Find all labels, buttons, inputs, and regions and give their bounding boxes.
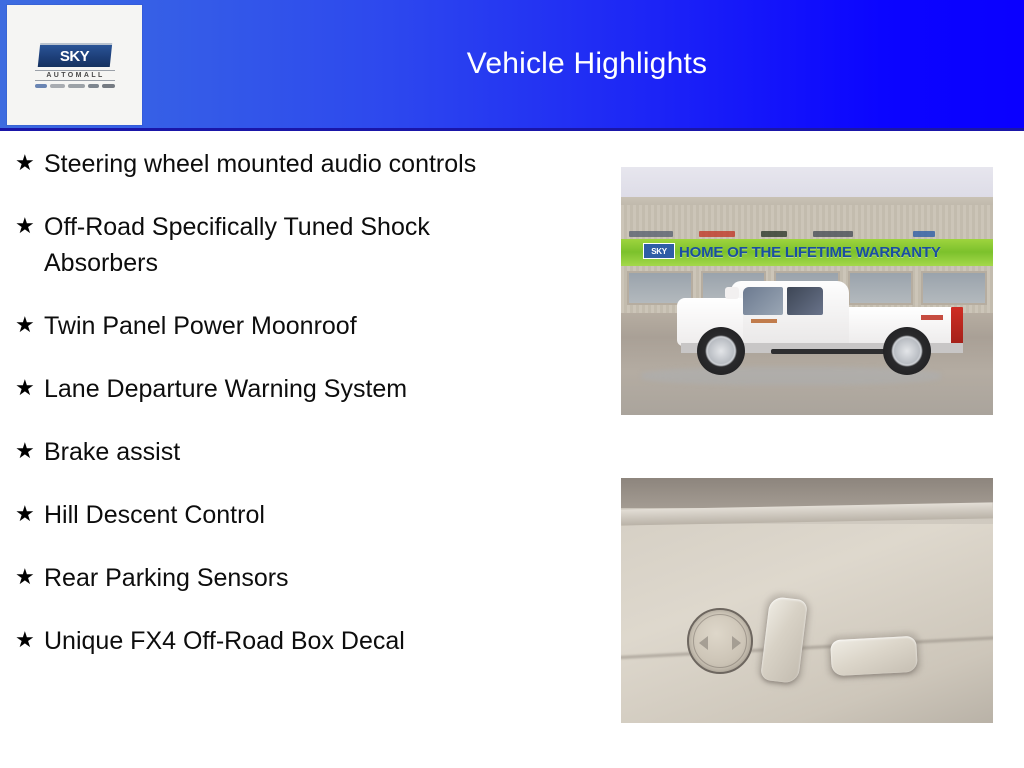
jeep-sign-icon	[761, 231, 787, 237]
automall-text: AUTOMALL	[35, 70, 115, 81]
sky-background	[621, 167, 993, 201]
list-item: ★ Lane Departure Warning System	[10, 371, 600, 407]
sky-sign-icon	[913, 231, 935, 237]
lumbar-arrow-right-icon	[732, 636, 741, 650]
brand-logos-strip	[33, 84, 117, 88]
highlight-label: Rear Parking Sensors	[44, 560, 289, 596]
wheel-hub	[708, 338, 734, 364]
vehicle-exterior-photo[interactable]: SKY HOME OF THE LIFETIME WARRANTY	[621, 167, 993, 415]
list-item: ★ Rear Parking Sensors	[10, 560, 600, 596]
ford-brand-icon	[35, 84, 47, 88]
star-icon: ★	[10, 146, 44, 180]
banner-text: HOME OF THE LIFETIME WARRANTY	[679, 240, 991, 265]
jeep-brand-icon	[88, 84, 99, 88]
banner-sky-logo: SKY	[643, 243, 675, 259]
list-item: ★ Hill Descent Control	[10, 497, 600, 533]
truck-bed-decal	[921, 315, 943, 320]
star-icon: ★	[10, 497, 44, 531]
seat-cushion-switch	[830, 636, 918, 676]
dodge-sign-icon	[699, 231, 735, 237]
ram-brand-icon	[102, 84, 115, 88]
list-item: ★ Twin Panel Power Moonroof	[10, 308, 600, 344]
chrysler-brand-icon	[50, 84, 65, 88]
list-item: ★ Off-Road Specifically Tuned Shock Abso…	[10, 209, 600, 281]
truck-fender-badge	[751, 319, 777, 323]
star-icon: ★	[10, 371, 44, 405]
page-title: Vehicle Highlights	[150, 0, 1024, 128]
truck-front-wheel	[697, 327, 745, 375]
highlights-list: ★ Steering wheel mounted audio controls …	[10, 146, 600, 686]
star-icon: ★	[10, 560, 44, 594]
dodge-brand-icon	[68, 84, 85, 88]
ram-sign-icon	[813, 231, 853, 237]
header-underline	[0, 128, 1024, 131]
logo-inner: SKY AUTOMALL	[32, 43, 118, 88]
truck-rear-wheel	[883, 327, 931, 375]
dealership-brand-signs	[629, 229, 985, 239]
star-icon: ★	[10, 434, 44, 468]
truck-side-mirror	[725, 287, 739, 299]
star-icon: ★	[10, 623, 44, 657]
highlight-label: Unique FX4 Off-Road Box Decal	[44, 623, 405, 659]
window-pane	[848, 271, 914, 305]
highlight-label: Steering wheel mounted audio controls	[44, 146, 476, 182]
list-item: ★ Unique FX4 Off-Road Box Decal	[10, 623, 600, 659]
wheel-hub	[894, 338, 920, 364]
highlight-label: Lane Departure Warning System	[44, 371, 407, 407]
highlight-label: Twin Panel Power Moonroof	[44, 308, 357, 344]
star-icon: ★	[10, 308, 44, 342]
sky-logo-text: SKY	[60, 47, 89, 64]
truck-rear-window	[787, 287, 823, 315]
truck-front-window	[743, 287, 783, 315]
window-pane	[921, 271, 987, 305]
sky-logo-plate: SKY	[37, 43, 112, 67]
truck-running-board	[771, 349, 891, 354]
dealer-logo[interactable]: SKY AUTOMALL	[7, 5, 142, 125]
seat-controls-photo[interactable]	[621, 478, 993, 723]
highlight-label: Brake assist	[44, 434, 180, 470]
highlight-label: Hill Descent Control	[44, 497, 265, 533]
list-item: ★ Steering wheel mounted audio controls	[10, 146, 600, 182]
star-icon: ★	[10, 209, 44, 243]
highlight-label: Off-Road Specifically Tuned Shock Absorb…	[44, 209, 534, 281]
list-item: ★ Brake assist	[10, 434, 600, 470]
lumbar-arrow-left-icon	[699, 636, 708, 650]
lumbar-control-knob	[687, 608, 753, 674]
chrysler-sign-icon	[629, 231, 673, 237]
